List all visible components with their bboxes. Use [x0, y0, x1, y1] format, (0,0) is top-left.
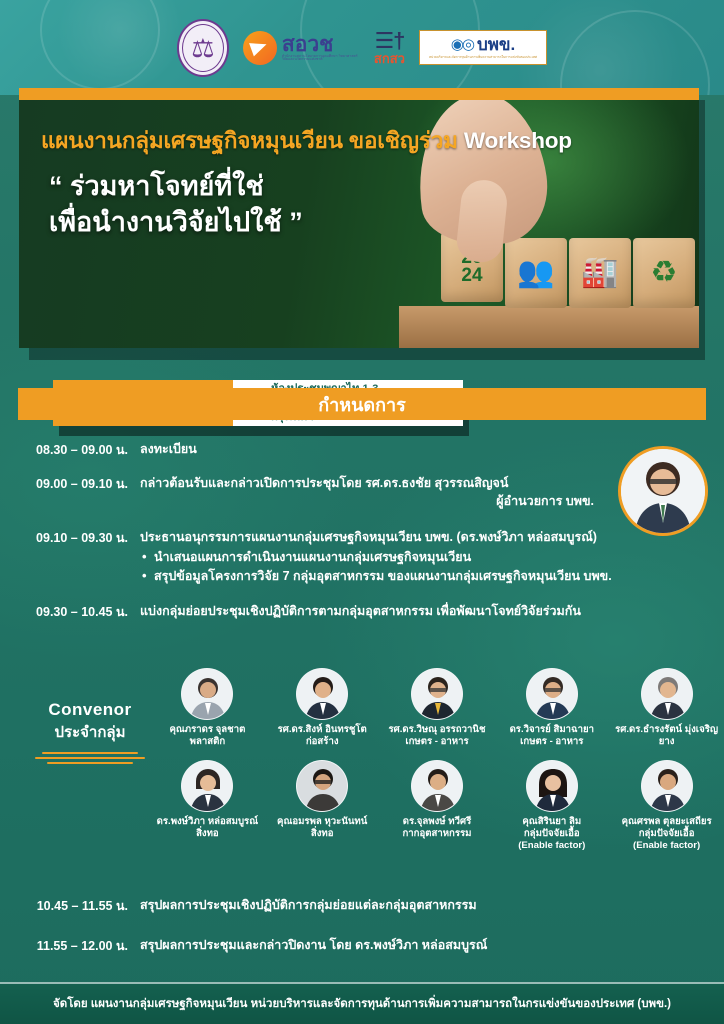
- hero-title-main: แผนงานกลุ่มเศรษฐกิจหมุนเวียน ขอเชิญร่วม: [41, 128, 464, 153]
- bpk-logo: ◉◎ บพข. หน่วยบริหารและจัดการทุนด้านการเพ…: [419, 30, 547, 65]
- hero-banner: 2024 👥 🏭 ♻ แผนงานกลุ่มเศรษฐกิจหมุนเวียน …: [19, 88, 705, 360]
- hero-quote: “ ร่วมหาโจทย์ที่ใช่ เพื่อนำงานวิจัยไปใช้…: [49, 168, 303, 241]
- avatar: [181, 760, 233, 812]
- avatar: [526, 668, 578, 720]
- convenor-person: รศ.ดร.สิงห์ อินทรชูโต ก่อสร้าง: [265, 668, 379, 748]
- convenor-role: กลุ่มปัจจัยเอื้อ (Enable factor): [633, 828, 700, 852]
- university-seal-logo: ⚖: [177, 19, 229, 77]
- convenor-person: รศ.ดร.วิษณุ อรรถวานิช เกษตร - อาหาร: [380, 668, 494, 748]
- convenor-role: สิ่งทอ: [196, 828, 219, 840]
- schedule-desc: ลงทะเบียน: [140, 440, 213, 458]
- convenor-grid: คุณภราดร จุลชาต พลาสติก รศ.ดร.สิงห์ อินท…: [150, 668, 724, 852]
- convenor-name: คุณอมรพล หุวะนันทน์: [277, 816, 367, 828]
- decor-line: [35, 757, 145, 759]
- hero-title-accent: Workshop: [464, 128, 572, 153]
- avatar: [296, 760, 348, 812]
- schedule-bullet-list: นำเสนอแผนการดำเนินงานแผนงานกลุ่มเศรษฐกิจ…: [140, 548, 612, 586]
- avatar: [641, 668, 693, 720]
- convenor-label-en: Convenor: [22, 700, 158, 720]
- convenor-label: Convenor ประจำกลุ่ม: [22, 700, 158, 767]
- logo-band: ⚖ สอวช สำนักงานสภานโยบายการอุดมศึกษา วิท…: [0, 0, 724, 95]
- convenor-name: ดร.วิจารย์ สิมาฉายา: [510, 724, 594, 736]
- speaker-portrait: [618, 446, 708, 536]
- factory-icon: 🏭: [581, 258, 618, 288]
- convenor-role: กลุ่มปัจจัยเอื้อ (Enable factor): [518, 828, 585, 852]
- convenor-role: กากอุตสาหกรรม: [402, 828, 471, 840]
- decor-line: [42, 752, 138, 754]
- bpk-sublabel: หน่วยบริหารและจัดการทุนด้านการเพิ่มความส…: [429, 56, 537, 59]
- schedule-desc: กล่าวต้อนรับและกล่าวเปิดการประชุมโดย รศ.…: [140, 474, 610, 510]
- bpk-label: บพข.: [477, 36, 515, 54]
- convenor-section: Convenor ประจำกลุ่ม คุณภราดร จุลชาต พลาส…: [0, 668, 724, 890]
- recycle-icon: ♻: [651, 258, 678, 288]
- schedule-desc-line1: กล่าวต้อนรับและกล่าวเปิดการประชุมโดย รศ.…: [140, 476, 508, 490]
- avatar: [411, 668, 463, 720]
- schedule-bullet: สรุปข้อมูลโครงการวิจัย 7 กลุ่มอุตสาหกรรม…: [140, 567, 612, 586]
- convenor-person: คุณอมรพล หุวะนันทน์ สิ่งทอ: [265, 760, 379, 852]
- hero-title: แผนงานกลุ่มเศรษฐกิจหมุนเวียน ขอเชิญร่วม …: [41, 122, 685, 158]
- sovch-mark-icon: [243, 31, 277, 65]
- convenor-role: ยาง: [659, 736, 675, 748]
- avatar: [641, 760, 693, 812]
- convenor-role: พลาสติก: [190, 736, 226, 748]
- schedule-row: 10.45 – 11.55 น. สรุปผลการประชุมเชิงปฏิบ…: [0, 896, 724, 916]
- bpk-mark-icon: ◉◎: [451, 37, 473, 53]
- schedule-bullet: นำเสนอแผนการดำเนินงานแผนงานกลุ่มเศรษฐกิจ…: [140, 548, 612, 567]
- convenor-name: คุณภราดร จุลชาต: [169, 724, 245, 736]
- sksw-label: สกสว: [374, 52, 405, 65]
- hero-quote-line2: เพื่อนำงานวิจัยไปใช้ ”: [49, 204, 303, 240]
- convenor-person: รศ.ดร.ธำรงรัตน์ มุ่งเจริญ ยาง: [610, 668, 724, 748]
- footer-text: จัดโดย แผนงานกลุ่มเศรษฐกิจหมุนเวียน หน่ว…: [53, 995, 671, 1013]
- hero-quote-line1: “ ร่วมหาโจทย์ที่ใช่: [49, 168, 303, 204]
- wood-block-recycle: ♻: [633, 238, 695, 308]
- avatar: [411, 760, 463, 812]
- poster-root: ⚖ สอวช สำนักงานสภานโยบายการอุดมศึกษา วิท…: [0, 0, 724, 1024]
- schedule-time: 09.30 – 10.45 น.: [0, 602, 140, 622]
- schedule-time: 09.10 – 09.30 น.: [0, 528, 140, 548]
- logo-row: ⚖ สอวช สำนักงานสภานโยบายการอุดมศึกษา วิท…: [0, 0, 724, 95]
- table-surface: [399, 306, 699, 348]
- schedule-row: 09.30 – 10.45 น. แบ่งกลุ่มย่อยประชุมเชิง…: [0, 602, 724, 622]
- hero-content: 2024 👥 🏭 ♻ แผนงานกลุ่มเศรษฐกิจหมุนเวียน …: [19, 100, 699, 348]
- avatar: [526, 760, 578, 812]
- schedule-desc: สรุปผลการประชุมเชิงปฏิบัติการกลุ่มย่อยแต…: [140, 896, 493, 914]
- wood-block-people: 👥: [505, 238, 567, 308]
- sovch-label: สอวช: [282, 34, 360, 55]
- schedule-desc-line2: ผู้อำนวยการ บพข.: [140, 492, 594, 510]
- sksw-logo: ☰† สกสว: [374, 30, 405, 65]
- convenor-label-th: ประจำกลุ่ม: [22, 720, 158, 744]
- schedule-time: 11.55 – 12.00 น.: [0, 936, 140, 956]
- convenor-person: คุณศรพล ตุลยะเสถียร กลุ่มปัจจัยเอื้อ (En…: [610, 760, 724, 852]
- avatar: [296, 668, 348, 720]
- convenor-name: คุณสิรินยา ลิม: [522, 816, 581, 828]
- convenor-role: เกษตร - อาหาร: [405, 736, 468, 748]
- convenor-role: เกษตร - อาหาร: [520, 736, 583, 748]
- convenor-person: ดร.พงษ์วิภา หล่อสมบูรณ์ สิ่งทอ: [150, 760, 264, 852]
- convenor-name: รศ.ดร.ธำรงรัตน์ มุ่งเจริญ: [615, 724, 718, 736]
- convenor-role: สิ่งทอ: [311, 828, 334, 840]
- footer: จัดโดย แผนงานกลุ่มเศรษฐกิจหมุนเวียน หน่ว…: [0, 984, 724, 1024]
- wood-block-factory: 🏭: [569, 238, 631, 308]
- seal-icon: ⚖: [177, 19, 229, 77]
- sovch-logo: สอวช สำนักงานสภานโยบายการอุดมศึกษา วิทยา…: [243, 31, 360, 65]
- schedule-time: 10.45 – 11.55 น.: [0, 896, 140, 916]
- convenor-name: ดร.จุลพงษ์ ทวีศรี: [403, 816, 472, 828]
- convenor-role: ก่อสร้าง: [306, 736, 339, 748]
- schedule-list-bottom: 10.45 – 11.55 น. สรุปผลการประชุมเชิงปฏิบ…: [0, 896, 724, 970]
- convenor-name: รศ.ดร.สิงห์ อินทรชูโต: [278, 724, 367, 736]
- schedule-row: 09.10 – 09.30 น. ประธานอนุกรรมการแผนงานก…: [0, 528, 724, 586]
- schedule-desc: สรุปผลการประชุมและกล่าวปิดงาน โดย ดร.พงษ…: [140, 936, 503, 954]
- convenor-person: ดร.วิจารย์ สิมาฉายา เกษตร - อาหาร: [495, 668, 609, 748]
- schedule-row: 11.55 – 12.00 น. สรุปผลการประชุมและกล่าว…: [0, 936, 724, 956]
- sovch-sublabel: สำนักงานสภานโยบายการอุดมศึกษา วิทยาศาสตร…: [282, 55, 360, 62]
- schedule-row: 09.00 – 09.10 น. กล่าวต้อนรับและกล่าวเปิ…: [0, 474, 724, 510]
- hero-accent-bar: [19, 88, 699, 100]
- sksw-mark-icon: ☰†: [374, 30, 404, 52]
- convenor-person: ดร.จุลพงษ์ ทวีศรี กากอุตสาหกรรม: [380, 760, 494, 852]
- schedule-desc-line1: ประธานอนุกรรมการแผนงานกลุ่มเศรษฐกิจหมุนเ…: [140, 530, 597, 544]
- decor-line: [47, 762, 133, 764]
- schedule-list: 08.30 – 09.00 น. ลงทะเบียน 09.00 – 09.10…: [0, 440, 724, 636]
- avatar: [181, 668, 233, 720]
- schedule-time: 09.00 – 09.10 น.: [0, 474, 140, 494]
- convenor-name: รศ.ดร.วิษณุ อรรถวานิช: [389, 724, 486, 736]
- schedule-row: 08.30 – 09.00 น. ลงทะเบียน: [0, 440, 724, 460]
- schedule-header: กำหนดการ: [18, 388, 706, 420]
- convenor-underline-decor: [22, 752, 158, 764]
- convenor-name: คุณศรพล ตุลยะเสถียร: [622, 816, 712, 828]
- convenor-person: คุณภราดร จุลชาต พลาสติก: [150, 668, 264, 748]
- schedule-desc: แบ่งกลุ่มย่อยประชุมเชิงปฏิบัติการตามกลุ่…: [140, 602, 597, 620]
- schedule-time: 08.30 – 09.00 น.: [0, 440, 140, 460]
- convenor-name: ดร.พงษ์วิภา หล่อสมบูรณ์: [157, 816, 258, 828]
- people-icon: 👥: [517, 258, 554, 288]
- convenor-person: คุณสิรินยา ลิม กลุ่มปัจจัยเอื้อ (Enable …: [495, 760, 609, 852]
- schedule-desc: ประธานอนุกรรมการแผนงานกลุ่มเศรษฐกิจหมุนเ…: [140, 528, 628, 586]
